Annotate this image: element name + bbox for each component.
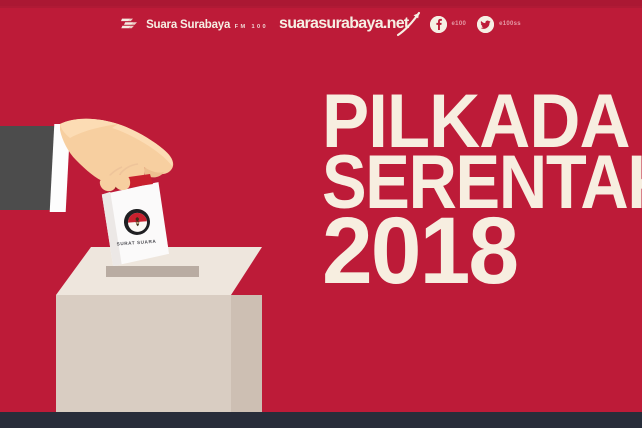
poster-headline: PILKADA SERENTAK 2018 bbox=[322, 92, 622, 292]
ground-strip bbox=[0, 412, 642, 428]
facebook-handle[interactable]: e100 bbox=[452, 21, 467, 27]
ballot-box-slot bbox=[106, 266, 199, 277]
brand-name: Suara Surabaya bbox=[146, 19, 230, 31]
pilkada-serentak-2018-poster: Suara Surabaya FM 100 suarasurabaya.net … bbox=[0, 0, 642, 428]
voting-arm bbox=[0, 118, 200, 238]
suit-sleeve bbox=[0, 126, 58, 210]
voting-hand bbox=[60, 118, 200, 233]
social-facebook[interactable]: e100 bbox=[430, 16, 467, 33]
facebook-icon[interactable] bbox=[430, 16, 447, 33]
social-twitter[interactable]: e100ss bbox=[477, 16, 521, 33]
brand-lockup: Suara Surabaya FM 100 bbox=[121, 16, 268, 33]
ballot-box-side bbox=[231, 295, 262, 428]
header-bar: Suara Surabaya FM 100 suarasurabaya.net … bbox=[0, 8, 642, 40]
website-url[interactable]: suarasurabaya.net bbox=[279, 15, 409, 32]
twitter-handle[interactable]: e100ss bbox=[499, 21, 521, 27]
twitter-icon[interactable] bbox=[477, 16, 494, 33]
ballot-box-front bbox=[56, 295, 231, 428]
brand-tagline: FM 100 bbox=[235, 24, 268, 30]
suara-surabaya-logo-icon bbox=[121, 16, 141, 33]
headline-line-year: 2018 bbox=[322, 211, 610, 293]
ballot-box bbox=[34, 243, 262, 428]
website-url-wrap[interactable]: suarasurabaya.net bbox=[279, 15, 419, 33]
